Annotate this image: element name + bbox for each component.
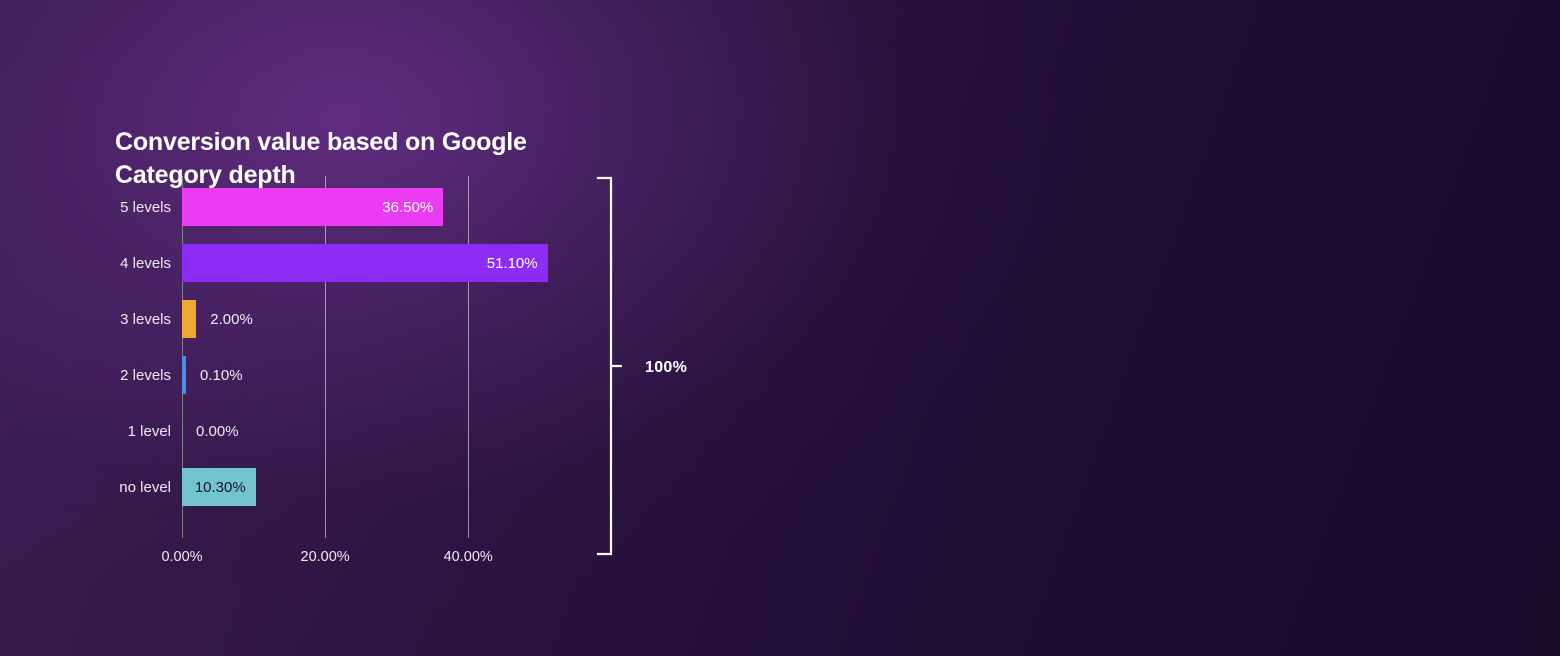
bracket-label-left: 100% <box>645 359 687 377</box>
category-label: no level <box>31 468 171 506</box>
bar[interactable]: 51.10% <box>182 244 548 282</box>
category-label: 4 levels <box>31 244 171 282</box>
category-label: 2 levels <box>31 356 171 394</box>
bar-row[interactable]: 3 levels2.00% <box>182 300 602 338</box>
bracket-100-percent-left <box>596 176 622 556</box>
bar-row[interactable]: no level10.30% <box>182 468 602 506</box>
chart-panel-conversion-value: Conversion value based on Google Categor… <box>0 0 780 656</box>
bar-value-label: 2.00% <box>210 300 253 338</box>
bar[interactable]: 10.30% <box>182 468 256 506</box>
bar-value-label: 51.10% <box>487 255 548 272</box>
x-tick-label: 40.00% <box>444 549 493 565</box>
bar-row[interactable]: 2 levels0.10% <box>182 356 602 394</box>
plot-area-conversion-value: 5 levels36.50%4 levels51.10%3 levels2.00… <box>182 176 602 538</box>
category-label: 3 levels <box>31 300 171 338</box>
x-tick-label: 0.00% <box>161 549 202 565</box>
category-label: 5 levels <box>1507 184 1560 222</box>
chart-panel-product-count: Product count with Google Category depth… <box>780 0 1560 656</box>
bar[interactable] <box>182 356 186 394</box>
bar-value-label: 0.10% <box>200 356 243 394</box>
bar-row[interactable]: 4 levels51.10% <box>182 244 602 282</box>
bar-row[interactable]: 1 level0.00% <box>182 412 602 450</box>
infographic-canvas: Conversion value based on Google Categor… <box>0 0 1560 656</box>
category-label: 1 level <box>1507 412 1560 450</box>
category-label: 3 levels <box>1507 298 1560 336</box>
category-label: 1 level <box>31 412 171 450</box>
category-label: no level <box>1507 469 1560 507</box>
category-label: 2 levels <box>1507 355 1560 393</box>
bar-value-label: 0.00% <box>196 412 239 450</box>
bar[interactable]: 36.50% <box>182 188 443 226</box>
bar-value-label: 10.30% <box>195 479 256 496</box>
bar-row[interactable]: 5 levels36.50% <box>182 188 602 226</box>
category-label: 5 levels <box>31 188 171 226</box>
category-label: 4 levels <box>1507 241 1560 279</box>
x-tick-label: 20.00% <box>301 549 350 565</box>
bar[interactable] <box>182 300 196 338</box>
bar-value-label: 36.50% <box>382 199 443 216</box>
